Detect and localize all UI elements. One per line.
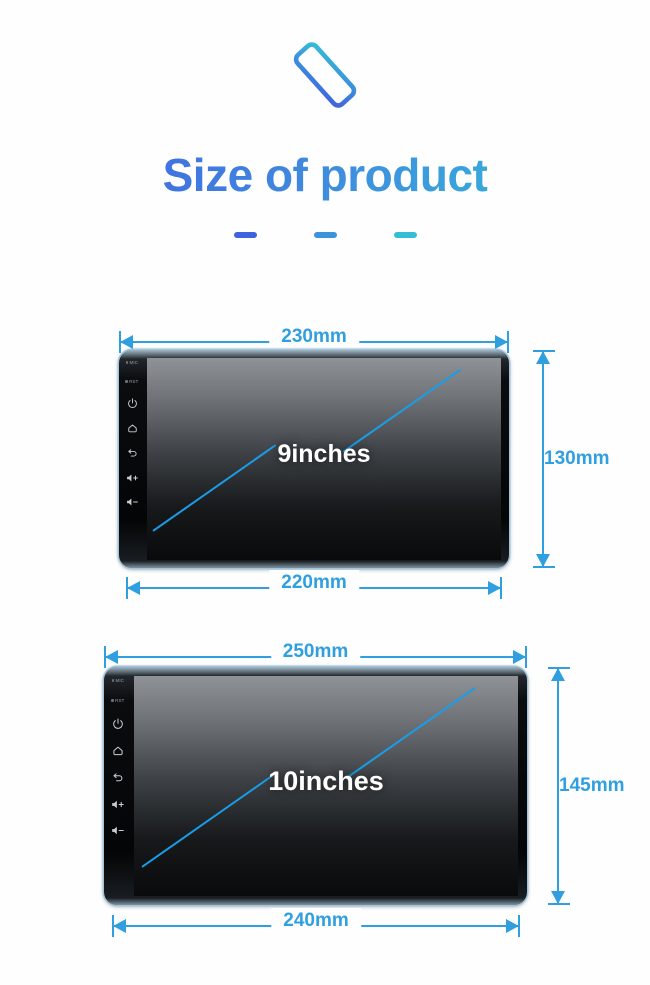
volume-down-icon [111,825,125,836]
button-mic-label: MIC [116,678,125,683]
screen-10-inch: 10inches [134,676,518,896]
button-home[interactable] [112,745,124,757]
dimension-label-top: 250mm [271,639,361,665]
arrowhead-top [551,668,565,681]
dash-3 [394,232,417,238]
button-mic[interactable]: MIC [112,678,124,683]
product-unit-10-inch: 250mm MIC RST [0,635,650,945]
diagonal-line-upper [347,687,476,778]
arrowhead-left [120,335,133,349]
dimension-top-10: 250mm [104,643,527,669]
button-mic[interactable]: MIC [126,360,138,365]
device-body-9-inch: MIC RST [119,350,509,568]
power-icon [127,398,138,409]
dimension-label-side: 145mm [559,769,625,803]
home-icon [127,423,138,434]
back-icon [127,448,138,459]
button-volume-down[interactable] [126,497,139,507]
arrowhead-left [105,650,118,664]
button-mic-label: MIC [130,360,139,365]
button-rst-label: RST [115,698,124,703]
mic-pinhole-icon [112,679,114,681]
dimension-side-10: 145mm [545,667,571,905]
button-power[interactable] [112,718,124,730]
button-rst-label: RST [129,379,138,384]
screen-9-inch: 9inches [147,358,501,560]
dimension-label-top: 230mm [269,324,359,350]
arrowhead-top [536,351,550,364]
button-volume-up[interactable] [111,799,125,810]
button-volume-down[interactable] [111,825,125,836]
mic-pinhole-icon [126,361,128,363]
button-volume-up[interactable] [126,473,139,483]
screen-label-10-inch: 10inches [134,766,518,797]
dimension-label-bottom: 240mm [271,908,361,934]
button-back[interactable] [127,448,138,459]
dimension-bottom-9: 220mm [126,574,502,600]
button-column-10: MIC RST [104,667,132,905]
arrowhead-right [495,335,508,349]
arrowhead-bottom [551,891,565,904]
power-icon [112,718,124,730]
arrowhead-right [488,581,501,595]
dimension-label-side: 130mm [544,442,610,476]
button-back[interactable] [112,772,124,784]
rst-pinhole-icon [125,380,127,382]
arrowhead-left [113,919,126,933]
home-icon [112,745,124,757]
button-rst[interactable]: RST [111,698,124,703]
header: Size of product [0,0,650,270]
arrowhead-right [506,919,519,933]
arrowhead-right [513,650,526,664]
button-power[interactable] [127,398,138,409]
rst-pinhole-icon [111,699,113,701]
device-body-10-inch: MIC RST [104,667,527,905]
dash-2 [314,232,337,238]
title-dashes [0,232,650,238]
button-column-9: MIC RST [119,350,145,568]
back-icon [112,772,124,784]
product-unit-9-inch: 230mm MIC RST [0,310,650,610]
ruler-icon [282,32,368,118]
arrowhead-bottom [536,554,550,567]
dimension-side-9: 130mm [530,350,556,568]
dash-1 [234,232,257,238]
button-home[interactable] [127,423,138,434]
screen-label-9-inch: 9inches [147,440,501,469]
volume-up-icon [126,473,139,483]
page-title: Size of product [0,148,650,202]
button-rst[interactable]: RST [125,379,138,384]
dimension-label-bottom: 220mm [269,570,359,596]
volume-up-icon [111,799,125,810]
volume-down-icon [126,497,139,507]
ruler-icon-container [0,32,650,118]
dimension-bottom-10: 240mm [112,912,520,938]
arrowhead-left [127,581,140,595]
